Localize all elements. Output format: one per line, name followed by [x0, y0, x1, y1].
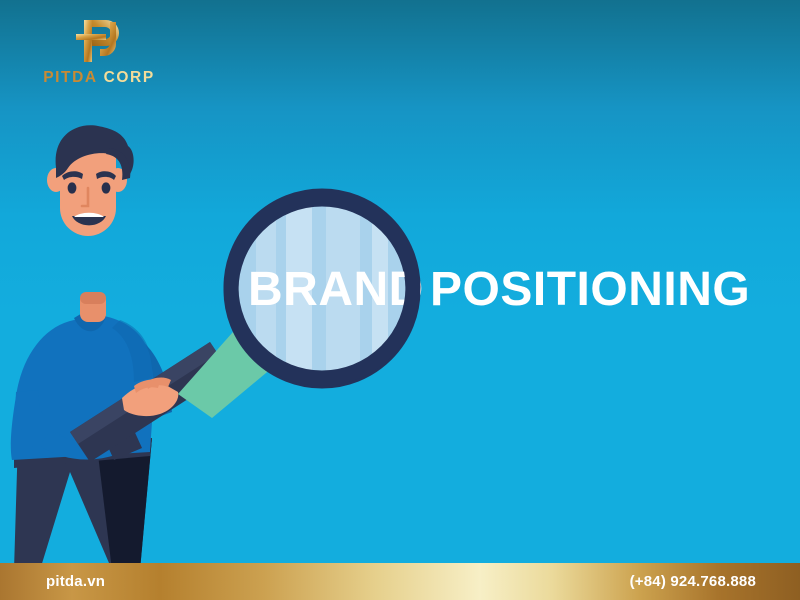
- poster-canvas: PITDA CORP: [0, 0, 800, 600]
- logo-word-secondary: CORP: [104, 69, 155, 86]
- logo-word-primary: PITDA: [43, 69, 98, 86]
- footer-phone[interactable]: (+84) 924.768.888: [630, 573, 756, 590]
- footer-website[interactable]: pitda.vn: [46, 573, 105, 590]
- brand-logo-wordmark: PITDA CORP: [24, 69, 174, 87]
- headline-word-outside: POSITIONING: [430, 258, 750, 322]
- pitda-p-monogram-icon: [68, 14, 128, 66]
- brand-logo[interactable]: PITDA CORP: [24, 14, 174, 92]
- magnifying-glass-icon: [60, 180, 440, 460]
- footer-bar: pitda.vn (+84) 924.768.888: [0, 563, 800, 600]
